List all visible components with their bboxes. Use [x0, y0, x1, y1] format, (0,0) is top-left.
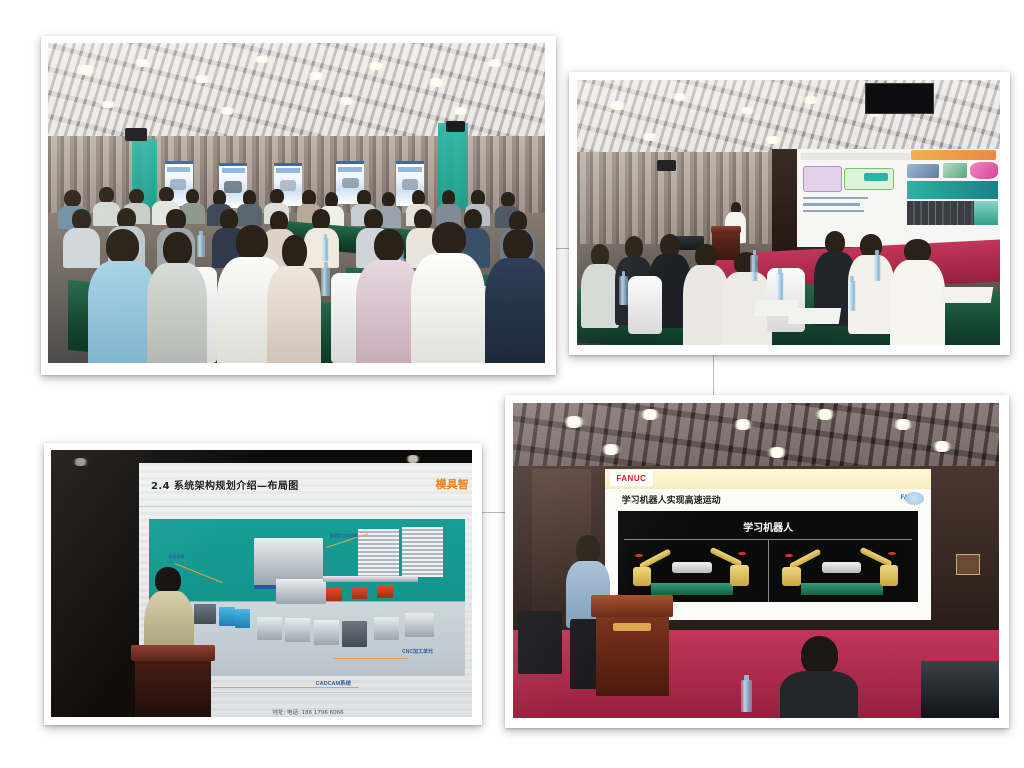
banner-bar: [398, 167, 421, 172]
fanuc-header-band: [605, 469, 931, 489]
attendee-foreground: [485, 229, 545, 363]
attendee-foreground: [267, 235, 322, 363]
robot-arm: [788, 548, 821, 569]
water-bottle: [848, 281, 856, 310]
conveyor: [323, 576, 418, 582]
ceiling-light: [732, 419, 754, 430]
robot-unit: [326, 588, 342, 601]
ceiling-light: [451, 107, 471, 115]
robot-arm: [710, 547, 743, 567]
podium-top: [711, 226, 742, 234]
photo-speaker-screen: [577, 80, 1000, 345]
cnc-machine: [194, 604, 216, 624]
ceiling: [513, 403, 999, 472]
attendee-foreground: [147, 232, 207, 363]
floor-speaker: [518, 611, 562, 674]
banner-bar: [338, 167, 361, 172]
curtain-wall: [577, 152, 797, 245]
attendee: [721, 252, 772, 345]
handout-paper: [787, 308, 840, 324]
podium: [596, 595, 669, 696]
banner-graphic: [402, 179, 418, 191]
work-table: [651, 583, 733, 595]
callout-label: CNC加工单元: [402, 648, 433, 655]
slide-footer: 地址: 电话: 186 1796 6066: [272, 708, 343, 716]
laptop: [921, 661, 999, 718]
robot-showcase-caption: 学习机器人: [618, 519, 918, 534]
ceiling-light: [562, 416, 586, 429]
robot-unit: [352, 587, 368, 600]
scene-speaker-hall: [577, 80, 1000, 345]
podium: [135, 645, 211, 717]
ceiling-light: [366, 62, 386, 70]
callout-label: 自动化立体仓库: [329, 533, 357, 539]
ceiling-speaker: [125, 128, 147, 141]
slide-title: 2.4 系统架构规划介绍—布局图: [151, 477, 299, 492]
water-bottle: [741, 680, 752, 712]
photo-audience-wide: [48, 43, 545, 363]
attendee-foreground: [780, 636, 858, 718]
corner-monitor: [865, 83, 935, 114]
slide-title: 学习机器人实现高速运动: [622, 493, 721, 506]
banner-graphic: [342, 178, 359, 188]
water-bottle: [619, 276, 627, 305]
ceiling-light: [801, 96, 820, 104]
chair: [628, 276, 662, 334]
fanuc-logo: FANUC: [610, 471, 652, 486]
ceiling-light: [73, 65, 98, 75]
ceiling-light: [892, 419, 914, 430]
water-bottle: [776, 273, 784, 302]
water-bottle: [873, 255, 881, 282]
robot-arm: [633, 567, 651, 586]
photo-frame-layout-slide[interactable]: 2.4 系统架构规划介绍—布局图 模具智: [44, 443, 482, 725]
photo-frame-audience-wide[interactable]: [41, 36, 556, 375]
photo-collage: 2.4 系统架构规划介绍—布局图 模具智: [0, 0, 1024, 768]
connector-panel2-panel4: [713, 353, 714, 401]
robot-arm: [859, 547, 892, 567]
coolant-tank: [219, 607, 235, 626]
photo-frame-fanuc-slide[interactable]: FANUC 学习机器人实现高速运动 FANUC 学习机器人: [505, 395, 1009, 728]
ceiling-light: [485, 59, 505, 67]
ceiling-light: [426, 78, 446, 86]
robot-arm: [880, 565, 898, 586]
scene-fanuc-hall: FANUC 学习机器人实现高速运动 FANUC 学习机器人: [513, 403, 999, 718]
slide-brand-mark: 模具智: [436, 476, 469, 492]
ceiling-light: [670, 93, 689, 101]
robot-cell-right: [777, 541, 909, 597]
work-table: [801, 583, 883, 595]
ceiling-light: [640, 133, 659, 141]
cnc-machine: [405, 613, 433, 637]
water-bottle: [321, 238, 329, 260]
callout-line: [333, 658, 409, 659]
photo-layout-slide: 2.4 系统架构规划介绍—布局图 模具智: [51, 450, 472, 717]
ceiling-light: [405, 455, 422, 463]
cnc-machine: [342, 621, 367, 646]
storage-rack: [402, 527, 443, 577]
photo-fanuc-slide: FANUC 学习机器人实现高速运动 FANUC 学习机器人: [513, 403, 999, 718]
robot-arm: [782, 567, 800, 586]
ceiling-light: [217, 107, 237, 115]
podium-top: [591, 595, 673, 617]
enclosure-block: [276, 579, 327, 604]
water-bottle: [750, 255, 758, 282]
robot-showcase-area: 学习机器人: [618, 511, 918, 602]
banner-bar: [222, 168, 245, 173]
callout-label: 自动化线: [168, 554, 184, 560]
robot-arm: [639, 548, 672, 569]
scene-layout-slide: 2.4 系统架构规划介绍—布局图 模具智: [51, 450, 472, 717]
ceiling-light: [607, 101, 628, 110]
ceiling-light: [931, 441, 953, 452]
banner-bar: [167, 167, 190, 172]
scene-audience-hall: [48, 43, 545, 363]
coolant-tank: [235, 609, 251, 628]
cnc-machine: [374, 617, 399, 641]
ceiling-light: [766, 447, 788, 458]
podium-top: [131, 645, 216, 661]
water-bottle: [321, 267, 330, 296]
ceiling-speaker: [446, 121, 466, 132]
photo-frame-speaker-screen[interactable]: [569, 72, 1010, 355]
robot-unit: [377, 585, 393, 598]
attendee: [581, 244, 619, 324]
robot-arm: [730, 565, 748, 586]
ceiling-light: [98, 101, 118, 109]
attendee: [890, 239, 945, 345]
dark-room-wall: [51, 450, 144, 717]
attendee-foreground: [411, 222, 486, 363]
ceiling-light: [763, 136, 782, 144]
robot-cell-left: [627, 541, 759, 597]
cnc-machine: [257, 617, 282, 641]
handout-paper: [940, 287, 993, 303]
cnc-machine: [285, 618, 310, 642]
banner-bar: [276, 168, 299, 173]
cnc-machine: [314, 620, 339, 645]
ceiling-light: [72, 458, 89, 466]
callout-label: CADCAM系统: [316, 679, 351, 687]
ceiling-speaker: [657, 160, 676, 172]
